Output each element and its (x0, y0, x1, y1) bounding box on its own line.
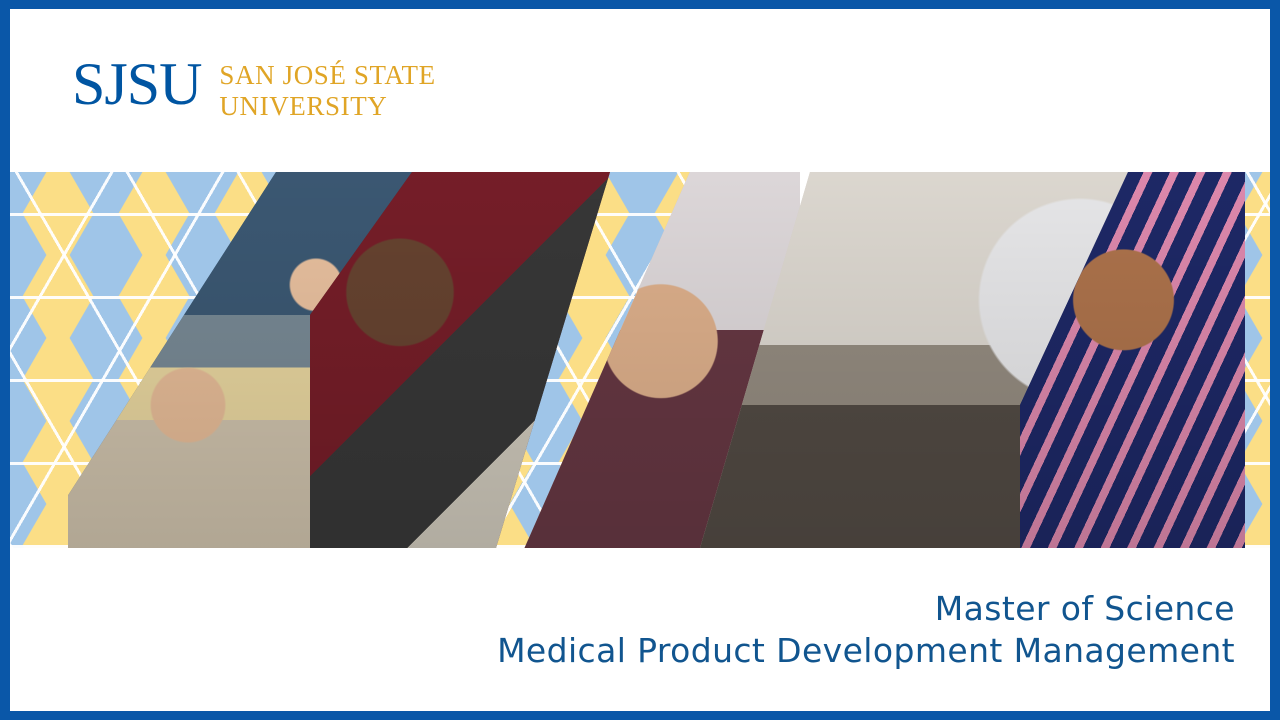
slide-title-block: Master of Science Medical Product Develo… (497, 588, 1235, 672)
slide-border-top (0, 0, 1280, 9)
sjsu-logo: SJSU SAN JOSÉ STATE UNIVERSITY (72, 55, 436, 122)
presentation-slide: SJSU SAN JOSÉ STATE UNIVERSITY (0, 0, 1280, 720)
slide-header: SJSU SAN JOSÉ STATE UNIVERSITY (0, 9, 1280, 172)
university-name-line-2: UNIVERSITY (219, 91, 435, 122)
slide-border-right (1270, 0, 1280, 720)
degree-title: Master of Science (497, 588, 1235, 630)
slide-border-left (0, 0, 10, 720)
university-name: SAN JOSÉ STATE UNIVERSITY (219, 55, 435, 122)
sjsu-wordmark: SJSU (72, 55, 201, 113)
university-name-line-1: SAN JOSÉ STATE (219, 60, 435, 91)
photo-collage-band (10, 172, 1270, 548)
slide-border-bottom (0, 711, 1280, 720)
program-title: Medical Product Development Management (497, 630, 1235, 672)
